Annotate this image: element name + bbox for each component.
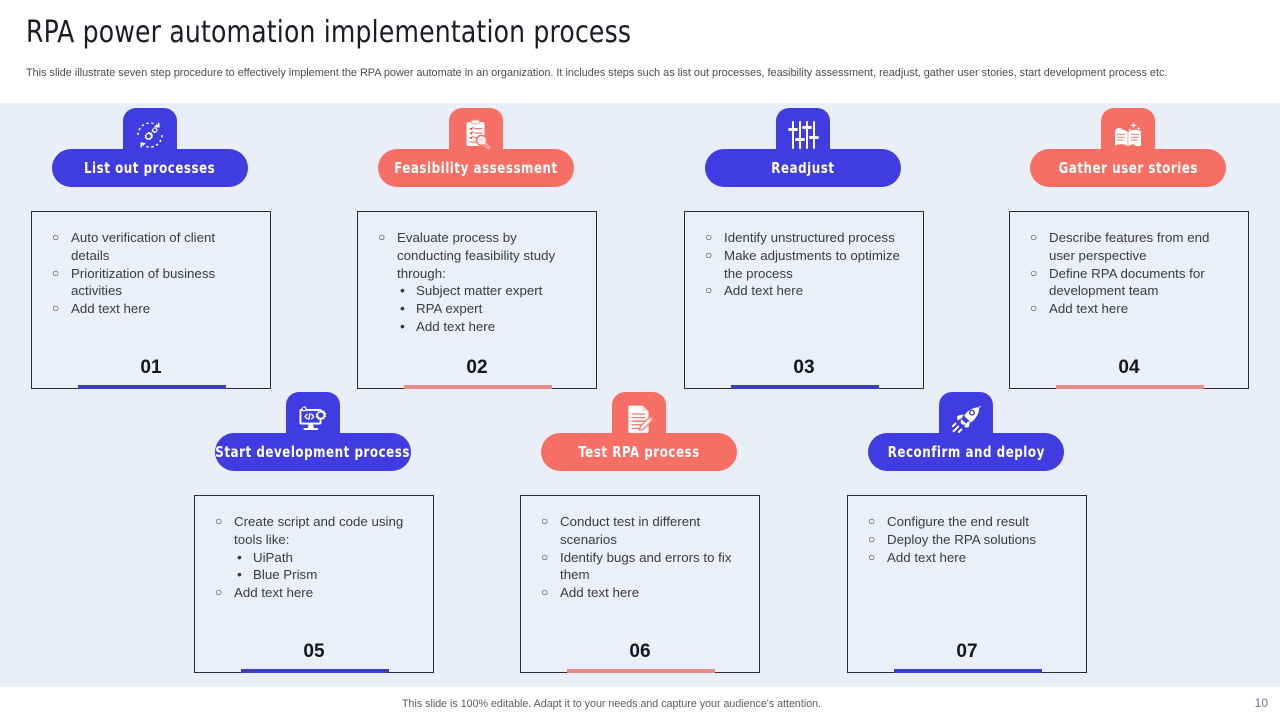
slide-footer: This slide is 100% editable. Adapt it to… — [0, 687, 1280, 720]
card-accent-bar — [567, 669, 715, 673]
bullet-item: ○Configure the end result — [866, 513, 1072, 531]
bullet-text: Add text here — [560, 585, 639, 600]
bullet-circle-icon: ○ — [215, 584, 222, 602]
step-bullet-list-wrapper: ○Conduct test in different scenarios○Ide… — [521, 496, 759, 602]
bullet-text: Add text here — [71, 301, 150, 316]
step-number: 02 — [358, 357, 596, 379]
step-detail-card: ○Conduct test in different scenarios○Ide… — [520, 495, 760, 673]
page-subtitle: This slide illustrate seven step procedu… — [26, 66, 1195, 81]
monitor-code-gear-icon — [286, 392, 340, 446]
slide-header: RPA power automation implementation proc… — [0, 0, 1280, 103]
sub-bullet-list: •UiPath•Blue Prism — [234, 549, 419, 585]
step-detail-card: ○Configure the end result○Deploy the RPA… — [847, 495, 1087, 673]
sub-bullet-dot-icon: • — [400, 282, 405, 300]
step-number: 05 — [195, 641, 433, 663]
bullet-item: ○Make adjustments to optimize the proces… — [703, 247, 909, 283]
bullet-text: Deploy the RPA solutions — [887, 532, 1036, 547]
card-accent-bar — [894, 669, 1042, 673]
sub-bullet-text: Add text here — [416, 319, 495, 334]
bullet-circle-icon: ○ — [705, 247, 712, 265]
bullet-circle-icon: ○ — [215, 513, 222, 531]
sub-bullet-item: •Blue Prism — [234, 566, 419, 584]
step-detail-card: ○Create script and code using tools like… — [194, 495, 434, 673]
bullet-text: Define RPA documents for development tea… — [1049, 266, 1205, 299]
step-bullet-list: ○Configure the end result○Deploy the RPA… — [866, 513, 1072, 566]
bullet-text: Describe features from end user perspect… — [1049, 230, 1209, 263]
bullet-text: Create script and code using tools like: — [234, 514, 403, 547]
step-detail-card: ○Auto verification of client details○Pri… — [31, 211, 271, 389]
step-bullet-list-wrapper: ○Create script and code using tools like… — [195, 496, 433, 602]
step-bullet-list: ○Describe features from end user perspec… — [1028, 229, 1234, 318]
sub-bullet-dot-icon: • — [237, 549, 242, 567]
bullet-circle-icon: ○ — [868, 549, 875, 567]
footer-note: This slide is 100% editable. Adapt it to… — [402, 698, 821, 710]
sub-bullet-text: RPA expert — [416, 301, 482, 316]
step-bullet-list-wrapper: ○Evaluate process by conducting feasibil… — [358, 212, 596, 336]
card-accent-bar — [241, 669, 389, 673]
step-bullet-list-wrapper: ○Describe features from end user perspec… — [1010, 212, 1248, 318]
page-number: 10 — [1255, 696, 1268, 710]
bullet-item: ○Auto verification of client details — [50, 229, 256, 265]
step-detail-card: ○Identify unstructured process○Make adju… — [684, 211, 924, 389]
bullet-circle-icon: ○ — [52, 300, 59, 318]
sub-bullet-item: •UiPath — [234, 549, 419, 567]
card-accent-bar — [78, 385, 226, 389]
bullet-item: ○Define RPA documents for development te… — [1028, 265, 1234, 301]
bullet-item: ○Add text here — [866, 549, 1072, 567]
bullet-item: ○Add text here — [539, 584, 745, 602]
bullet-item: ○Prioritization of business activities — [50, 265, 256, 301]
bullet-circle-icon: ○ — [541, 513, 548, 531]
document-pen-icon — [612, 392, 666, 446]
bullet-item: ○Deploy the RPA solutions — [866, 531, 1072, 549]
step-number: 06 — [521, 641, 759, 663]
open-book-sparkle-icon — [1101, 108, 1155, 162]
sub-bullet-dot-icon: • — [400, 300, 405, 318]
bullet-text: Identify bugs and errors to fix them — [560, 550, 731, 583]
step-bullet-list-wrapper: ○Identify unstructured process○Make adju… — [685, 212, 923, 300]
card-accent-bar — [731, 385, 879, 389]
bullet-item: ○Conduct test in different scenarios — [539, 513, 745, 549]
sliders-icon — [776, 108, 830, 162]
bullet-item: ○Identify bugs and errors to fix them — [539, 549, 745, 585]
bullet-circle-icon: ○ — [1030, 265, 1037, 283]
page-title: RPA power automation implementation proc… — [26, 15, 631, 50]
step-bullet-list: ○Conduct test in different scenarios○Ide… — [539, 513, 745, 602]
bullet-text: Add text here — [887, 550, 966, 565]
bullet-text: Conduct test in different scenarios — [560, 514, 700, 547]
bullet-circle-icon: ○ — [378, 229, 385, 247]
sub-bullet-dot-icon: • — [400, 318, 405, 336]
step-detail-card: ○Describe features from end user perspec… — [1009, 211, 1249, 389]
bullet-text: Evaluate process by conducting feasibili… — [397, 230, 555, 281]
step-bullet-list-wrapper: ○Configure the end result○Deploy the RPA… — [848, 496, 1086, 566]
bullet-text: Add text here — [1049, 301, 1128, 316]
sub-bullet-item: •RPA expert — [397, 300, 582, 318]
step-detail-card: ○Evaluate process by conducting feasibil… — [357, 211, 597, 389]
clipboard-magnifier-icon — [449, 108, 503, 162]
bullet-item: ○Add text here — [213, 584, 419, 602]
gears-refresh-icon — [123, 108, 177, 162]
bullet-item: ○Add text here — [1028, 300, 1234, 318]
bullet-circle-icon: ○ — [705, 229, 712, 247]
step-number: 01 — [32, 357, 270, 379]
step-bullet-list: ○Auto verification of client details○Pri… — [50, 229, 256, 318]
bullet-item: ○Describe features from end user perspec… — [1028, 229, 1234, 265]
bullet-circle-icon: ○ — [52, 265, 59, 283]
card-accent-bar — [404, 385, 552, 389]
rocket-icon — [939, 392, 993, 446]
bullet-text: Auto verification of client details — [71, 230, 215, 263]
step-bullet-list: ○Create script and code using tools like… — [213, 513, 419, 602]
sub-bullet-text: Blue Prism — [253, 567, 317, 582]
bullet-circle-icon: ○ — [541, 584, 548, 602]
bullet-text: Make adjustments to optimize the process — [724, 248, 900, 281]
step-bullet-list: ○Evaluate process by conducting feasibil… — [376, 229, 582, 336]
step-number: 03 — [685, 357, 923, 379]
bullet-text: Add text here — [724, 283, 803, 298]
bullet-item: ○Evaluate process by conducting feasibil… — [376, 229, 582, 336]
bullet-item: ○Add text here — [703, 282, 909, 300]
bullet-text: Add text here — [234, 585, 313, 600]
bullet-circle-icon: ○ — [868, 531, 875, 549]
bullet-item: ○Add text here — [50, 300, 256, 318]
sub-bullet-text: UiPath — [253, 550, 293, 565]
bullet-circle-icon: ○ — [541, 549, 548, 567]
sub-bullet-item: •Add text here — [397, 318, 582, 336]
sub-bullet-dot-icon: • — [237, 566, 242, 584]
bullet-circle-icon: ○ — [868, 513, 875, 531]
bullet-circle-icon: ○ — [52, 229, 59, 247]
bullet-circle-icon: ○ — [1030, 229, 1037, 247]
step-number: 04 — [1010, 357, 1248, 379]
bullet-item: ○Create script and code using tools like… — [213, 513, 419, 584]
bullet-circle-icon: ○ — [1030, 300, 1037, 318]
step-number: 07 — [848, 641, 1086, 663]
bullet-text: Identify unstructured process — [724, 230, 895, 245]
bullet-text: Prioritization of business activities — [71, 266, 215, 299]
sub-bullet-text: Subject matter expert — [416, 283, 542, 298]
step-bullet-list: ○Identify unstructured process○Make adju… — [703, 229, 909, 300]
sub-bullet-list: •Subject matter expert•RPA expert•Add te… — [397, 282, 582, 335]
sub-bullet-item: •Subject matter expert — [397, 282, 582, 300]
card-accent-bar — [1056, 385, 1204, 389]
bullet-item: ○Identify unstructured process — [703, 229, 909, 247]
bullet-text: Configure the end result — [887, 514, 1029, 529]
bullet-circle-icon: ○ — [705, 282, 712, 300]
step-bullet-list-wrapper: ○Auto verification of client details○Pri… — [32, 212, 270, 318]
